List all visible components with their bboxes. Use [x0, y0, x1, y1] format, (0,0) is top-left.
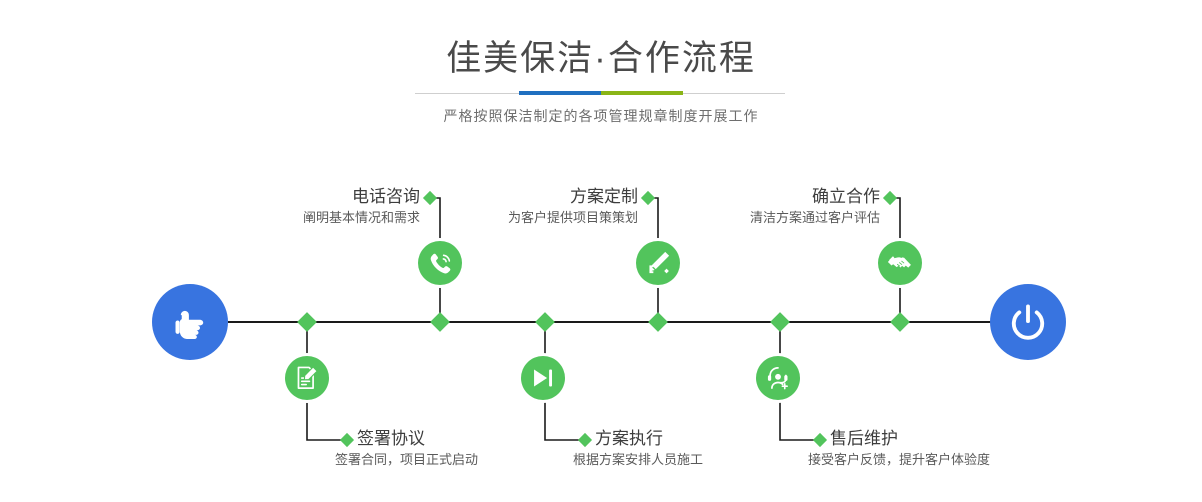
phone-call-icon	[427, 250, 453, 276]
axis-marker-step-6	[770, 312, 790, 332]
step-desc-3: 为客户提供项目策策划	[398, 208, 638, 228]
axis-marker-step-2	[297, 312, 317, 332]
flow-diagram-page: 佳美保洁·合作流程 严格按照保洁制定的各项管理规章制度开展工作	[0, 0, 1202, 502]
end-endpoint[interactable]	[990, 284, 1066, 360]
step-title-3: 方案定制	[398, 186, 638, 208]
step-desc-5: 清洁方案通过客户评估	[640, 208, 880, 228]
document-sign-icon	[294, 365, 320, 391]
step-label-6: 售后维护 接受客户反馈，提升客户体验度	[830, 428, 1130, 470]
axis-marker-step-3	[648, 312, 668, 332]
step-icon-5[interactable]	[878, 241, 922, 285]
step-desc-1: 阐明基本情况和需求	[180, 208, 420, 228]
axis-marker-step-5	[890, 312, 910, 332]
axis-marker-step-4	[535, 312, 555, 332]
step-label-1: 电话咨询 阐明基本情况和需求	[180, 186, 420, 228]
customer-service-icon	[765, 365, 791, 391]
play-execute-icon	[530, 365, 556, 391]
axis-marker-step-1	[430, 312, 450, 332]
step-title-1: 电话咨询	[180, 186, 420, 208]
step-icon-6[interactable]	[756, 356, 800, 400]
label-diamond-markers	[340, 191, 897, 447]
start-endpoint[interactable]	[152, 284, 228, 360]
step-label-5: 确立合作 清洁方案通过客户评估	[640, 186, 880, 228]
step-label-3: 方案定制 为客户提供项目策策划	[398, 186, 638, 228]
step-title-6: 售后维护	[830, 428, 1130, 450]
step-desc-6: 接受客户反馈，提升客户体验度	[808, 450, 1130, 470]
label-marker-step-5	[883, 191, 897, 205]
step-icon-3[interactable]	[636, 241, 680, 285]
timeline-connectors	[0, 0, 1202, 502]
step-title-4: 方案执行	[595, 428, 855, 450]
pointing-hand-icon	[168, 300, 212, 344]
label-marker-step-2	[340, 433, 354, 447]
step-icon-1[interactable]	[418, 241, 462, 285]
step-title-5: 确立合作	[640, 186, 880, 208]
handshake-icon	[887, 250, 913, 276]
step-title-2: 签署协议	[357, 428, 617, 450]
step-icon-4[interactable]	[521, 356, 565, 400]
power-icon	[1006, 300, 1050, 344]
pencil-ruler-icon	[645, 250, 671, 276]
step-icon-2[interactable]	[285, 356, 329, 400]
